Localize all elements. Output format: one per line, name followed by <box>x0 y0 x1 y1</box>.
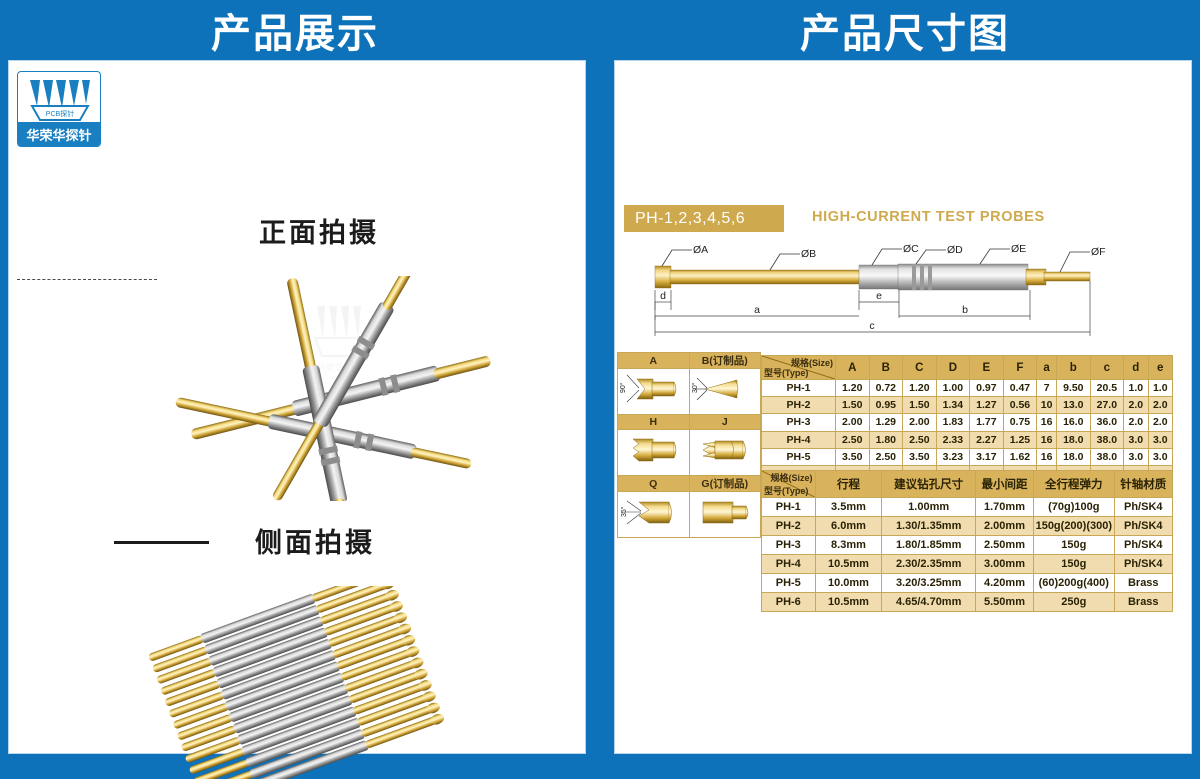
table-row: PH-42.501.802.502.332.271.251618.038.03.… <box>762 431 1173 448</box>
table-row: PH-410.5mm2.30/2.35mm3.00mm150gPh/SK4 <box>762 555 1173 574</box>
svg-text:PCB探针: PCB探针 <box>46 109 74 118</box>
len-label-a: a <box>754 304 760 316</box>
len-label-d: d <box>660 290 666 302</box>
corner-header: 规格(Size) 型号(Type) <box>762 471 816 498</box>
probe-photo-front: 华荣华探针 <box>129 276 519 501</box>
svg-text:35°: 35° <box>620 506 628 517</box>
logo-text: 华荣华探针 <box>18 122 100 146</box>
dimensions-table: 规格(Size) 型号(Type) A B C D E F a b c d e … <box>761 355 1173 483</box>
properties-table: 规格(Size) 型号(Type) 行程 建议钻孔尺寸 最小间距 全行程弹力 针… <box>761 470 1173 612</box>
tip-shape-h <box>618 430 690 476</box>
crown-probe-logo-icon: PCB探针 <box>24 76 96 126</box>
dim-label-b: ØB <box>801 248 816 260</box>
svg-text:30°: 30° <box>691 382 699 393</box>
dim-label-c: ØC <box>903 243 919 255</box>
col-A: A <box>836 356 870 380</box>
col-a: a <box>1037 356 1057 380</box>
col-C: C <box>903 356 937 380</box>
col-drill-size: 建议钻孔尺寸 <box>882 471 976 498</box>
product-detail-page: 产品展示 产品尺寸图 PCB探针 华荣华探针 正面拍摄 <box>0 0 1200 779</box>
tip-label-q: Q <box>618 476 690 492</box>
col-c: c <box>1090 356 1124 380</box>
table-row: PH-13.5mm1.00mm1.70mm(70g)100gPh/SK4 <box>762 498 1173 517</box>
row-type: PH-2 <box>762 517 816 536</box>
company-logo: PCB探针 华荣华探针 <box>17 71 101 147</box>
row-type: PH-3 <box>762 536 816 555</box>
tip-shape-g <box>689 492 761 538</box>
probe-dimension-diagram: ØA ØB ØC ØD ØE ØF <box>620 240 1176 350</box>
table-row: PH-32.001.292.001.831.770.751616.036.02.… <box>762 414 1173 431</box>
dim-label-a: ØA <box>693 244 708 256</box>
caption-rule <box>114 541 209 544</box>
col-spring-force: 全行程弹力 <box>1034 471 1114 498</box>
row-type: PH-4 <box>762 555 816 574</box>
col-material: 针轴材质 <box>1114 471 1172 498</box>
col-d: d <box>1124 356 1148 380</box>
row-type: PH-3 <box>762 414 836 431</box>
len-label-b: b <box>962 304 968 316</box>
table-header-row: 规格(Size) 型号(Type) A B C D E F a b c d e <box>762 356 1173 380</box>
table-row: PH-53.502.503.503.233.171.621618.038.03.… <box>762 448 1173 465</box>
col-stroke: 行程 <box>815 471 882 498</box>
table-row: PH-38.3mm1.80/1.85mm2.50mm150gPh/SK4 <box>762 536 1173 555</box>
dim-label-d: ØD <box>947 244 963 256</box>
row-type: PH-5 <box>762 574 816 593</box>
col-E: E <box>970 356 1004 380</box>
probe-photo-side <box>149 586 499 779</box>
tip-label-j: J <box>689 415 761 430</box>
table-row: PH-26.0mm1.30/1.35mm2.00mm150g(200)(300)… <box>762 517 1173 536</box>
tip-shape-j <box>689 430 761 476</box>
len-label-c: c <box>869 320 874 332</box>
page-title-left: 产品展示 <box>0 0 590 60</box>
row-type: PH-5 <box>762 448 836 465</box>
row-type: PH-2 <box>762 397 836 414</box>
col-min-pitch: 最小间距 <box>975 471 1033 498</box>
product-photo-panel: PCB探针 华荣华探针 正面拍摄 <box>8 60 586 754</box>
row-type: PH-4 <box>762 431 836 448</box>
table-header-row: 规格(Size) 型号(Type) 行程 建议钻孔尺寸 最小间距 全行程弹力 针… <box>762 471 1173 498</box>
table-row: PH-510.0mm3.20/3.25mm4.20mm(60)200g(400)… <box>762 574 1173 593</box>
tip-label-h: H <box>618 415 690 430</box>
col-F: F <box>1003 356 1037 380</box>
tip-shape-b: 30° <box>689 369 761 415</box>
corner-type-label: 型号(Type) <box>764 366 808 379</box>
corner-size-label: 规格(Size) <box>771 471 813 484</box>
row-type: PH-6 <box>762 593 816 612</box>
table-row: PH-610.5mm4.65/4.70mm5.50mm250gBrass <box>762 593 1173 612</box>
tip-shape-a: 90° <box>618 369 690 415</box>
svg-text:90°: 90° <box>619 382 627 393</box>
len-label-e: e <box>876 290 882 302</box>
table-row: PH-11.200.721.201.000.970.4779.5020.51.0… <box>762 380 1173 397</box>
caption-side-view: 侧面拍摄 <box>255 521 375 560</box>
table-row: PH-21.500.951.501.341.270.561013.027.02.… <box>762 397 1173 414</box>
model-badge: PH-1,2,3,4,5,6 <box>624 205 784 232</box>
col-e: e <box>1148 356 1173 380</box>
dim-label-f: ØF <box>1091 246 1106 258</box>
diagram-subtitle: HIGH-CURRENT TEST PROBES <box>812 209 1045 225</box>
tip-label-a: A <box>618 353 690 369</box>
dim-label-e: ØE <box>1011 243 1026 255</box>
row-type: PH-1 <box>762 380 836 397</box>
tip-label-g: G(订制品) <box>689 476 761 492</box>
page-title-right: 产品尺寸图 <box>610 0 1200 60</box>
tip-shape-legend: A B(订制品) <box>617 352 761 538</box>
col-D: D <box>936 356 970 380</box>
tip-label-b: B(订制品) <box>689 353 761 369</box>
corner-header: 规格(Size) 型号(Type) <box>762 356 836 380</box>
caption-front-view: 正面拍摄 <box>259 211 379 250</box>
col-B: B <box>869 356 903 380</box>
col-b: b <box>1057 356 1091 380</box>
row-type: PH-1 <box>762 498 816 517</box>
tip-shape-q: 35° <box>618 492 690 538</box>
corner-type-label: 型号(Type) <box>764 484 808 497</box>
